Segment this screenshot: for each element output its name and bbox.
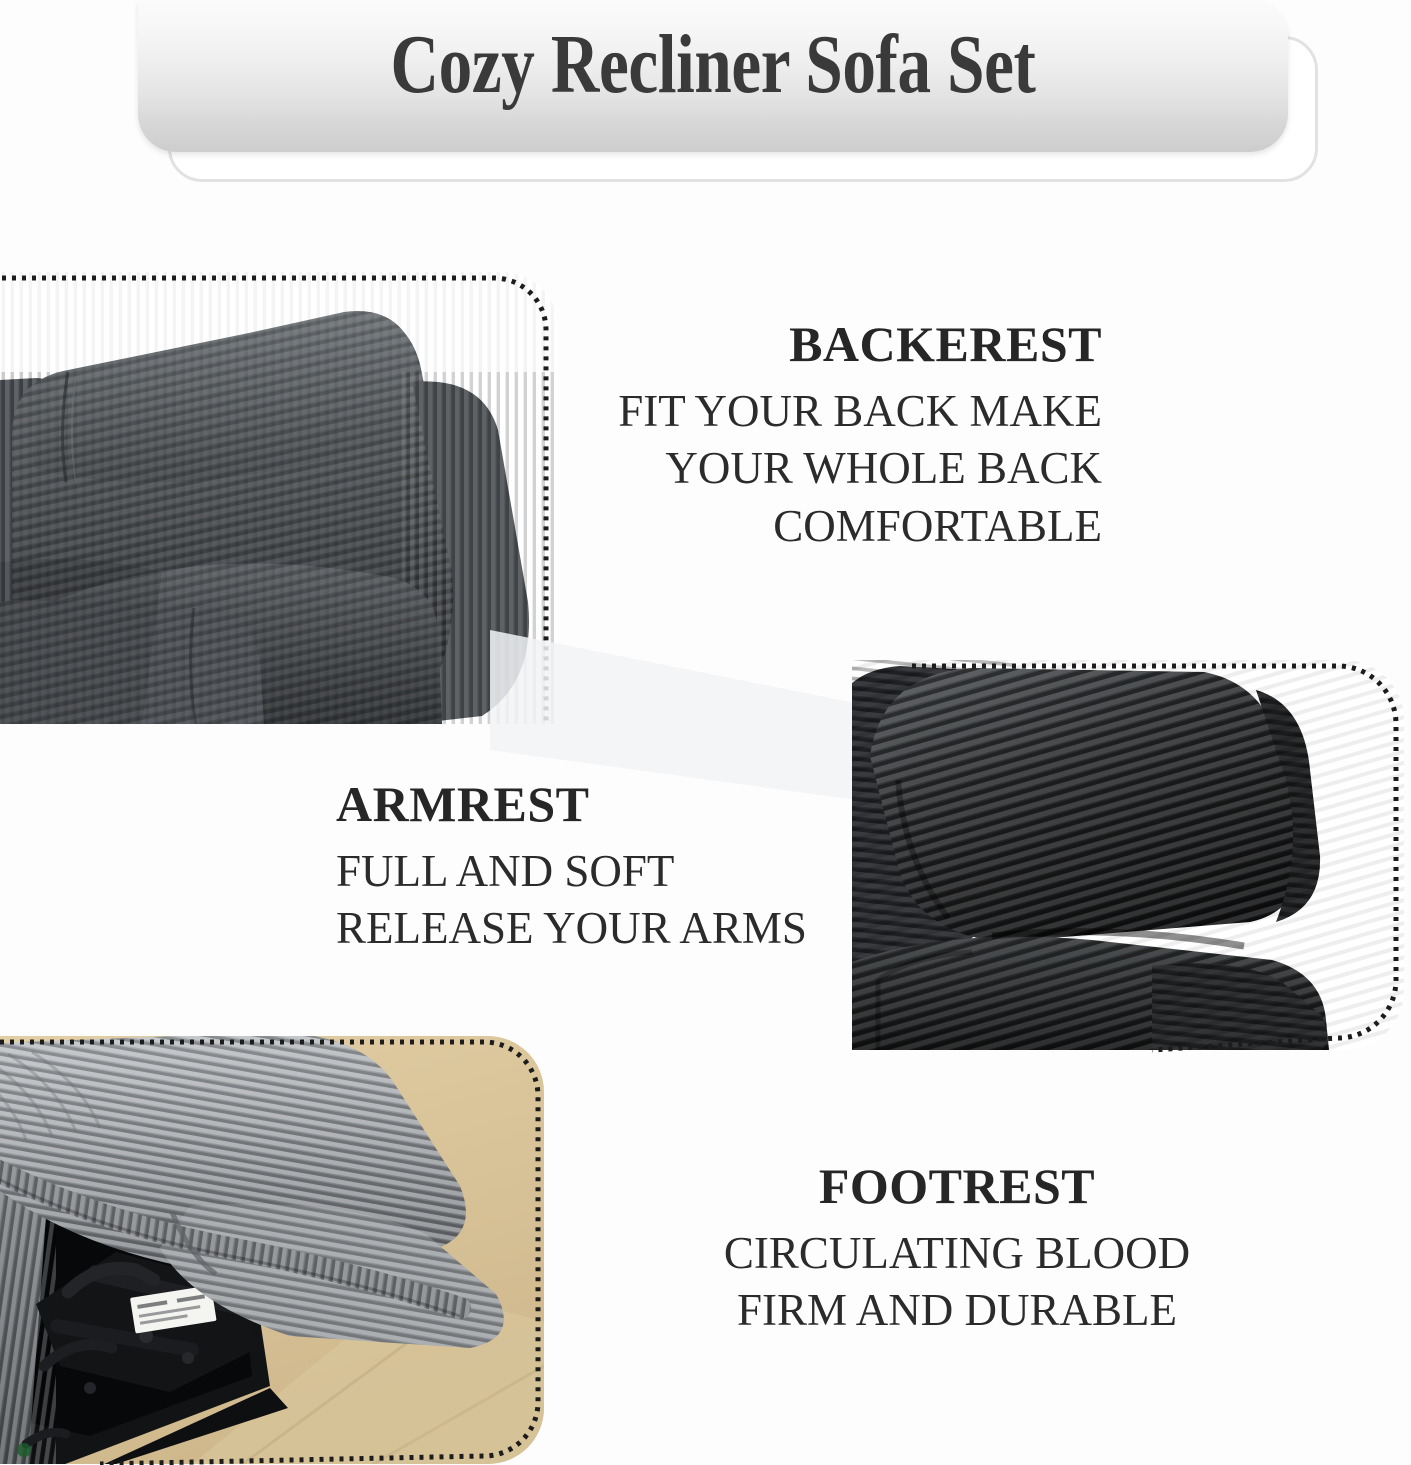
backrest-line-3: COMFORTABLE: [600, 498, 1102, 556]
armrest-photo: [852, 660, 1411, 1060]
footrest-line-2: FIRM AND DURABLE: [612, 1282, 1302, 1340]
footrest-heading: FOOTREST: [612, 1160, 1302, 1213]
armrest-photo-panel: [852, 660, 1411, 1060]
backrest-heading: BACKEREST: [600, 318, 1102, 371]
footrest-photo: [0, 1036, 560, 1465]
footrest-line-1: CIRCULATING BLOOD: [612, 1225, 1302, 1283]
armrest-heading: ARMREST: [336, 778, 846, 831]
backrest-photo: [0, 272, 558, 724]
footrest-photo-panel: [0, 1036, 560, 1465]
page-title: Cozy Recliner Sofa Set: [253, 0, 1173, 128]
backrest-photo-panel: [0, 272, 558, 724]
footrest-feature-block: FOOTREST CIRCULATING BLOOD FIRM AND DURA…: [612, 1160, 1302, 1340]
armrest-line-1: FULL AND SOFT: [336, 843, 846, 901]
backrest-feature-block: BACKEREST FIT YOUR BACK MAKE YOUR WHOLE …: [600, 318, 1102, 555]
armrest-line-2: RELEASE YOUR ARMS: [336, 900, 846, 958]
product-infographic: Cozy Recliner Sofa Set: [0, 0, 1411, 1465]
backrest-line-1: FIT YOUR BACK MAKE: [600, 383, 1102, 441]
armrest-feature-block: ARMREST FULL AND SOFT RELEASE YOUR ARMS: [336, 778, 846, 958]
backrest-line-2: YOUR WHOLE BACK: [600, 440, 1102, 498]
title-banner: Cozy Recliner Sofa Set: [0, 0, 1411, 210]
